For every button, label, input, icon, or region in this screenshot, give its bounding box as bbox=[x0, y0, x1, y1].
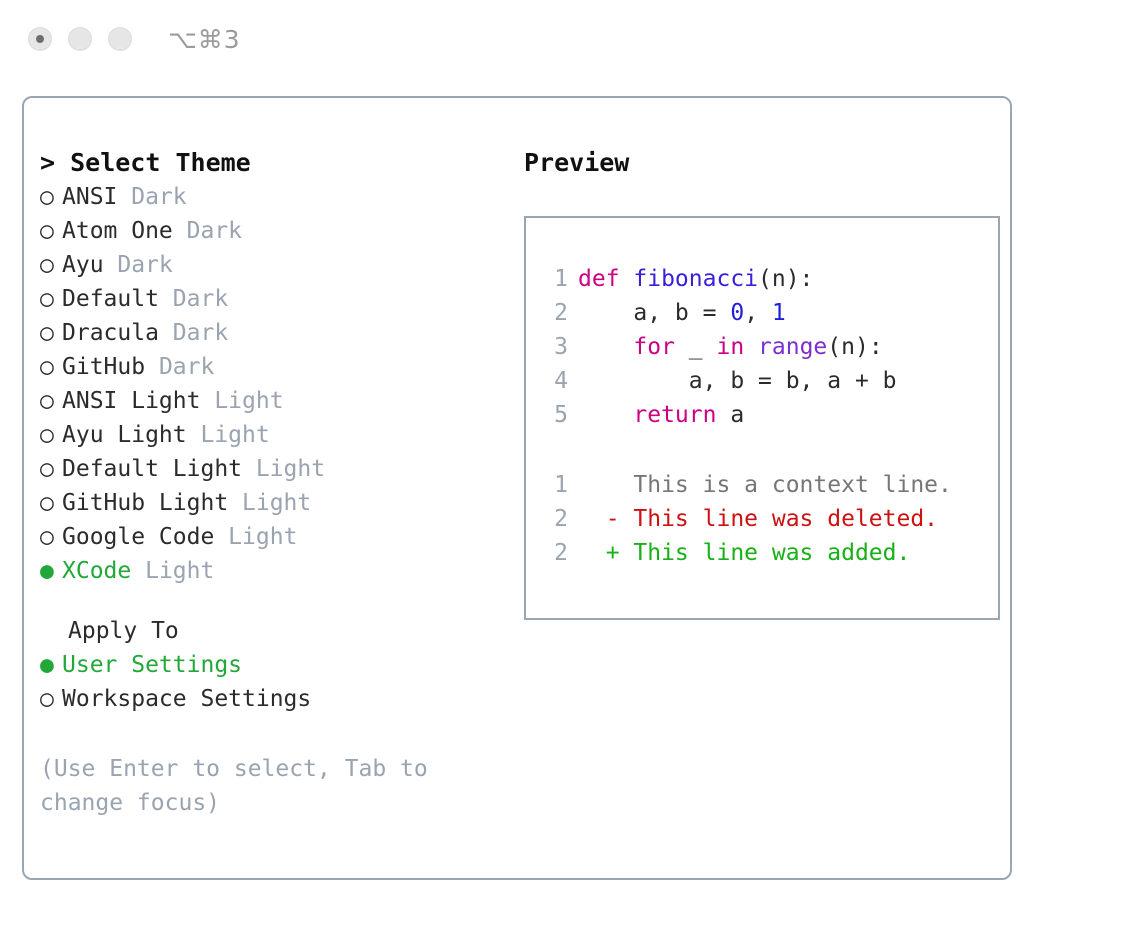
theme-variant-tag: Light bbox=[187, 422, 270, 448]
diff-marker: - bbox=[578, 506, 620, 532]
line-number: 4 bbox=[546, 364, 568, 398]
line-number: 1 bbox=[546, 262, 568, 296]
theme-variant-tag: Dark bbox=[173, 218, 242, 244]
content-columns: > Select Theme ○ANSI Dark○Atom One Dark○… bbox=[24, 98, 1010, 878]
radio-unselected-icon: ○ bbox=[40, 180, 62, 214]
app-screen: ⌥⌘3 > Select Theme ○ANSI Dark○Atom One D… bbox=[0, 0, 1140, 934]
window-controls bbox=[28, 27, 132, 51]
keyboard-shortcut-label: ⌥⌘3 bbox=[168, 25, 241, 54]
theme-option[interactable]: ○Ayu Dark bbox=[40, 248, 500, 282]
code-token: , bbox=[744, 300, 772, 326]
theme-option[interactable]: ○GitHub Light Light bbox=[40, 486, 500, 520]
radio-unselected-icon: ○ bbox=[40, 316, 62, 350]
theme-option[interactable]: ●XCode Light bbox=[40, 554, 500, 588]
theme-name: GitHub bbox=[62, 354, 145, 380]
code-token: range bbox=[758, 334, 827, 360]
radio-selected-icon: ● bbox=[40, 648, 62, 682]
theme-name: Atom One bbox=[62, 218, 173, 244]
code-token: 1 bbox=[772, 300, 786, 326]
theme-variant-tag: Dark bbox=[104, 252, 173, 278]
theme-option[interactable]: ○Ayu Light Light bbox=[40, 418, 500, 452]
keyboard-hint: (Use Enter to select, Tab to change focu… bbox=[40, 752, 440, 820]
theme-name: Ayu Light bbox=[62, 422, 187, 448]
diff-text: This line was added. bbox=[620, 540, 911, 566]
theme-option[interactable]: ○Google Code Light bbox=[40, 520, 500, 554]
diff-text: This line was deleted. bbox=[620, 506, 939, 532]
code-token: in bbox=[716, 334, 744, 360]
code-line: 3 for _ in range(n): bbox=[546, 330, 998, 364]
code-token: a, b = bbox=[578, 300, 730, 326]
line-number: 2 bbox=[546, 536, 568, 570]
code-token: fibonacci bbox=[633, 266, 758, 292]
line-number: 5 bbox=[546, 398, 568, 432]
code-token: return bbox=[633, 402, 716, 428]
radio-unselected-icon: ○ bbox=[40, 214, 62, 248]
code-line: 2 a, b = 0, 1 bbox=[546, 296, 998, 330]
theme-variant-tag: Light bbox=[228, 490, 311, 516]
theme-variant-tag: Dark bbox=[117, 184, 186, 210]
diff-sample: 1 This is a context line.2 - This line w… bbox=[546, 468, 998, 570]
theme-name: Default Light bbox=[62, 456, 242, 482]
line-number: 3 bbox=[546, 330, 568, 364]
diff-line: 2 + This line was added. bbox=[546, 536, 998, 570]
apply-to-option[interactable]: ●User Settings bbox=[40, 648, 500, 682]
radio-unselected-icon: ○ bbox=[40, 486, 62, 520]
line-number: 2 bbox=[546, 502, 568, 536]
radio-unselected-icon: ○ bbox=[40, 418, 62, 452]
code-token: for bbox=[633, 334, 675, 360]
theme-name: ANSI Light bbox=[62, 388, 200, 414]
theme-variant-tag: Dark bbox=[159, 320, 228, 346]
theme-option[interactable]: ○GitHub Dark bbox=[40, 350, 500, 384]
theme-name: GitHub Light bbox=[62, 490, 228, 516]
window-button-close[interactable] bbox=[28, 27, 52, 51]
preview-panel: Preview 1def fibonacci(n):2 a, b = 0, 13… bbox=[524, 146, 994, 620]
window-button-maximize[interactable] bbox=[108, 27, 132, 51]
apply-to-label-text: User Settings bbox=[62, 652, 242, 678]
radio-unselected-icon: ○ bbox=[40, 350, 62, 384]
theme-variant-tag: Light bbox=[242, 456, 325, 482]
radio-unselected-icon: ○ bbox=[40, 384, 62, 418]
code-sample: 1def fibonacci(n):2 a, b = 0, 13 for _ i… bbox=[546, 262, 998, 432]
theme-list: ○ANSI Dark○Atom One Dark○Ayu Dark○Defaul… bbox=[40, 180, 500, 588]
radio-selected-icon: ● bbox=[40, 554, 62, 588]
code-token: a bbox=[716, 402, 744, 428]
apply-to-option[interactable]: ○Workspace Settings bbox=[40, 682, 500, 716]
theme-variant-tag: Dark bbox=[145, 354, 214, 380]
diff-text: This is a context line. bbox=[620, 472, 952, 498]
radio-unselected-icon: ○ bbox=[40, 682, 62, 716]
theme-variant-tag: Light bbox=[200, 388, 283, 414]
title-bar: ⌥⌘3 bbox=[0, 0, 1140, 78]
line-number: 1 bbox=[546, 468, 568, 502]
code-token: _ bbox=[675, 334, 717, 360]
diff-marker: + bbox=[578, 540, 620, 566]
diff-marker bbox=[578, 472, 620, 498]
code-line: 4 a, b = b, a + b bbox=[546, 364, 998, 398]
theme-option[interactable]: ○ANSI Light Light bbox=[40, 384, 500, 418]
theme-option[interactable]: ○Dracula Dark bbox=[40, 316, 500, 350]
code-line: 1def fibonacci(n): bbox=[546, 262, 998, 296]
code-token bbox=[744, 334, 758, 360]
theme-variant-tag: Dark bbox=[159, 286, 228, 312]
spacer bbox=[40, 716, 500, 752]
preview-box: 1def fibonacci(n):2 a, b = 0, 13 for _ i… bbox=[524, 216, 1000, 620]
theme-option[interactable]: ○ANSI Dark bbox=[40, 180, 500, 214]
main-window: > Select Theme ○ANSI Dark○Atom One Dark○… bbox=[22, 96, 1012, 880]
apply-to-label-text: Workspace Settings bbox=[62, 686, 311, 712]
active-indicator-dot bbox=[36, 35, 44, 43]
theme-name: Ayu bbox=[62, 252, 104, 278]
theme-selector-panel: > Select Theme ○ANSI Dark○Atom One Dark○… bbox=[40, 146, 500, 820]
theme-variant-tag: Light bbox=[214, 524, 297, 550]
code-token bbox=[578, 402, 633, 428]
line-number: 2 bbox=[546, 296, 568, 330]
apply-to-options: ●User Settings○Workspace Settings bbox=[40, 648, 500, 716]
theme-name: Dracula bbox=[62, 320, 159, 346]
theme-option[interactable]: ○Default Dark bbox=[40, 282, 500, 316]
code-line: 5 return a bbox=[546, 398, 998, 432]
theme-option[interactable]: ○Default Light Light bbox=[40, 452, 500, 486]
window-button-minimize[interactable] bbox=[68, 27, 92, 51]
theme-option[interactable]: ○Atom One Dark bbox=[40, 214, 500, 248]
theme-name: Default bbox=[62, 286, 159, 312]
code-token: def bbox=[578, 266, 633, 292]
code-token bbox=[578, 334, 633, 360]
radio-unselected-icon: ○ bbox=[40, 520, 62, 554]
spacer bbox=[546, 432, 998, 468]
diff-line: 1 This is a context line. bbox=[546, 468, 998, 502]
radio-unselected-icon: ○ bbox=[40, 248, 62, 282]
code-token: (n): bbox=[827, 334, 882, 360]
code-token: (n): bbox=[758, 266, 813, 292]
preview-title: Preview bbox=[524, 146, 994, 180]
radio-unselected-icon: ○ bbox=[40, 452, 62, 486]
page-title: > Select Theme bbox=[40, 146, 500, 180]
code-token: 0 bbox=[730, 300, 744, 326]
hint-line-1: (Use Enter to select, Tab to bbox=[40, 752, 440, 786]
spacer bbox=[40, 588, 500, 614]
theme-name: ANSI bbox=[62, 184, 117, 210]
theme-variant-tag: Light bbox=[131, 558, 214, 584]
radio-unselected-icon: ○ bbox=[40, 282, 62, 316]
diff-line: 2 - This line was deleted. bbox=[546, 502, 998, 536]
code-token: a, b = b, a + b bbox=[578, 368, 897, 394]
theme-name: Google Code bbox=[62, 524, 214, 550]
apply-to-label: Apply To bbox=[40, 614, 500, 648]
hint-line-2: change focus) bbox=[40, 786, 440, 820]
theme-name: XCode bbox=[62, 558, 131, 584]
